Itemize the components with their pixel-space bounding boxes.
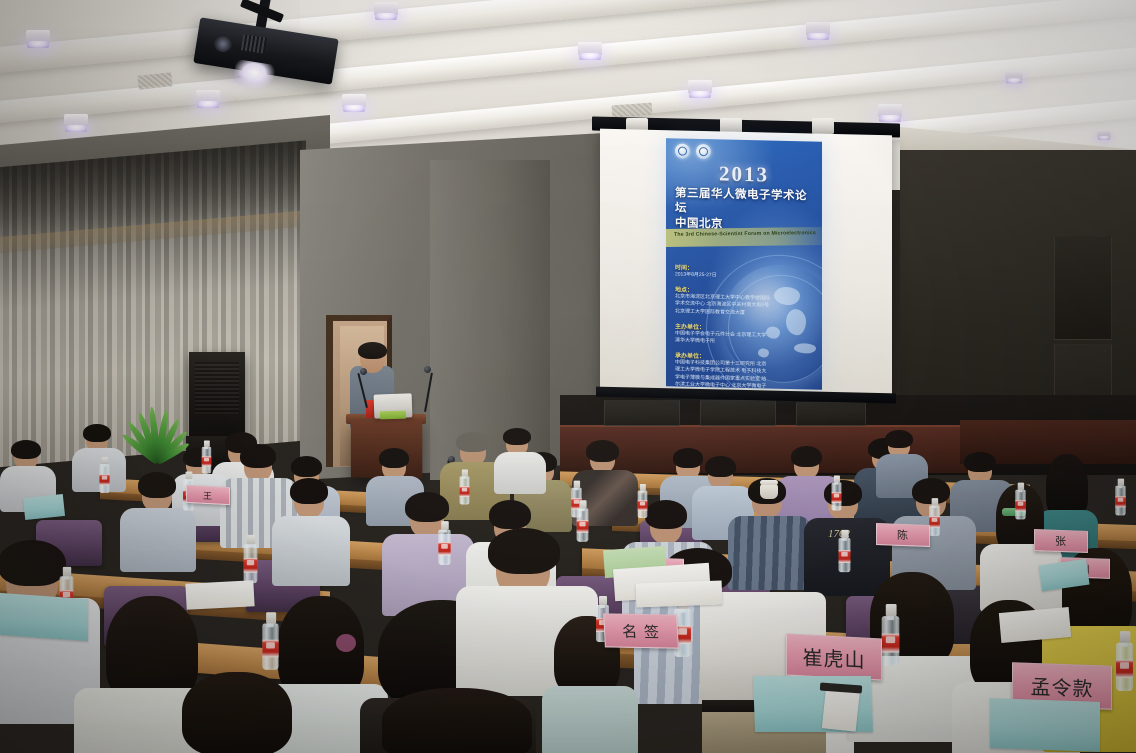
handout <box>999 607 1071 643</box>
ceiling-downlight <box>1097 130 1110 139</box>
name-card-text: 崔虎山 <box>803 641 866 673</box>
ceiling-downlight <box>878 104 902 121</box>
microphone-icon <box>424 366 431 373</box>
water-bottle <box>638 484 648 518</box>
slide-section-body: 中国电子科技集团公司第十三研究所 北京理工大学微电子学院工程技术 电子科技大学电… <box>675 360 771 390</box>
water-bottle <box>262 612 278 670</box>
water-bottle <box>1115 479 1125 516</box>
organizer-logo-icon <box>675 143 690 158</box>
name-card-text: 陈 <box>897 527 909 543</box>
water-bottle <box>577 500 589 541</box>
water-bottle <box>244 535 258 583</box>
table-name-card: 王 <box>186 485 230 505</box>
ceiling-downlight <box>374 2 398 19</box>
table-name-card: 崔虎山 <box>786 633 882 680</box>
slide-section-body: 中国电子学会电子元件分会 北京理工大学 清华大学微电子所 <box>675 330 771 347</box>
ceiling-downlight <box>26 30 50 47</box>
water-bottle <box>1015 483 1025 520</box>
handout <box>636 581 723 608</box>
table-name-card: 陈 <box>876 523 930 547</box>
water-bottle <box>929 498 940 536</box>
ceiling-downlight <box>64 114 88 131</box>
program-booklet <box>990 698 1100 752</box>
ceiling-downlight <box>578 42 602 59</box>
red-cup <box>366 400 374 418</box>
ceiling-projector <box>196 10 336 80</box>
slide-year: 2013 <box>666 160 822 189</box>
wall-panel <box>796 402 866 426</box>
ceiling-downlight <box>342 94 366 111</box>
name-card-text: 孟令款 <box>1031 670 1094 701</box>
projection-screen: 2013 第三届华人微电子学术论坛 中国北京 The 3rd Chinese-S… <box>600 128 896 402</box>
program-booklet <box>23 494 65 520</box>
water-bottle <box>839 530 851 572</box>
wall-panel <box>1054 236 1112 340</box>
organizer-logo-icon <box>696 144 711 159</box>
name-card-text: 名 签 <box>622 620 661 642</box>
presenter-hair <box>358 342 387 359</box>
table-name-card: 名 签 <box>603 613 679 648</box>
wall-panel <box>700 400 776 426</box>
name-card-text: 王 <box>203 488 213 502</box>
slide-section-body: 北京市海淀区北京理工大学中心教学楼国际学术交流中心 北京海淀区中关村南大街5号北… <box>675 294 771 318</box>
program-booklet <box>0 593 88 641</box>
water-bottle <box>460 470 470 505</box>
teacup-lid <box>760 480 778 485</box>
conference-hall-photo: 2013 第三届华人微电子学术论坛 中国北京 The 3rd Chinese-S… <box>0 0 1136 753</box>
table-name-card: 张 <box>1034 529 1088 553</box>
ceiling-downlight <box>196 90 220 107</box>
slide-title-line1: 第三届华人微电子学术论坛 <box>675 186 816 219</box>
presentation-slide: 2013 第三届华人微电子学术论坛 中国北京 The 3rd Chinese-S… <box>666 138 822 390</box>
wall-column <box>430 160 550 480</box>
name-card-text: 张 <box>1055 533 1067 549</box>
ceiling-downlight <box>806 22 830 39</box>
water-bottle <box>438 521 450 565</box>
teacup <box>760 484 778 499</box>
ceiling-downlight <box>688 80 712 97</box>
water-bottle <box>99 457 109 493</box>
screen-clip <box>812 118 834 134</box>
ceiling-downlight <box>1005 70 1022 82</box>
wall-panel <box>604 400 680 426</box>
microphone-icon <box>360 368 367 375</box>
handout <box>185 580 254 610</box>
laptop-base <box>380 411 406 420</box>
water-bottle <box>832 476 842 511</box>
slide-details: 时间： 2013年8月25-27日 地点： 北京市海淀区北京理工大学中心教学楼国… <box>675 256 771 389</box>
water-bottle <box>202 440 211 473</box>
hair-clip <box>336 634 356 652</box>
slide-section-body: 2013年8月25-27日 <box>675 271 771 280</box>
water-bottle <box>1116 631 1133 691</box>
water-bottle <box>882 604 900 666</box>
